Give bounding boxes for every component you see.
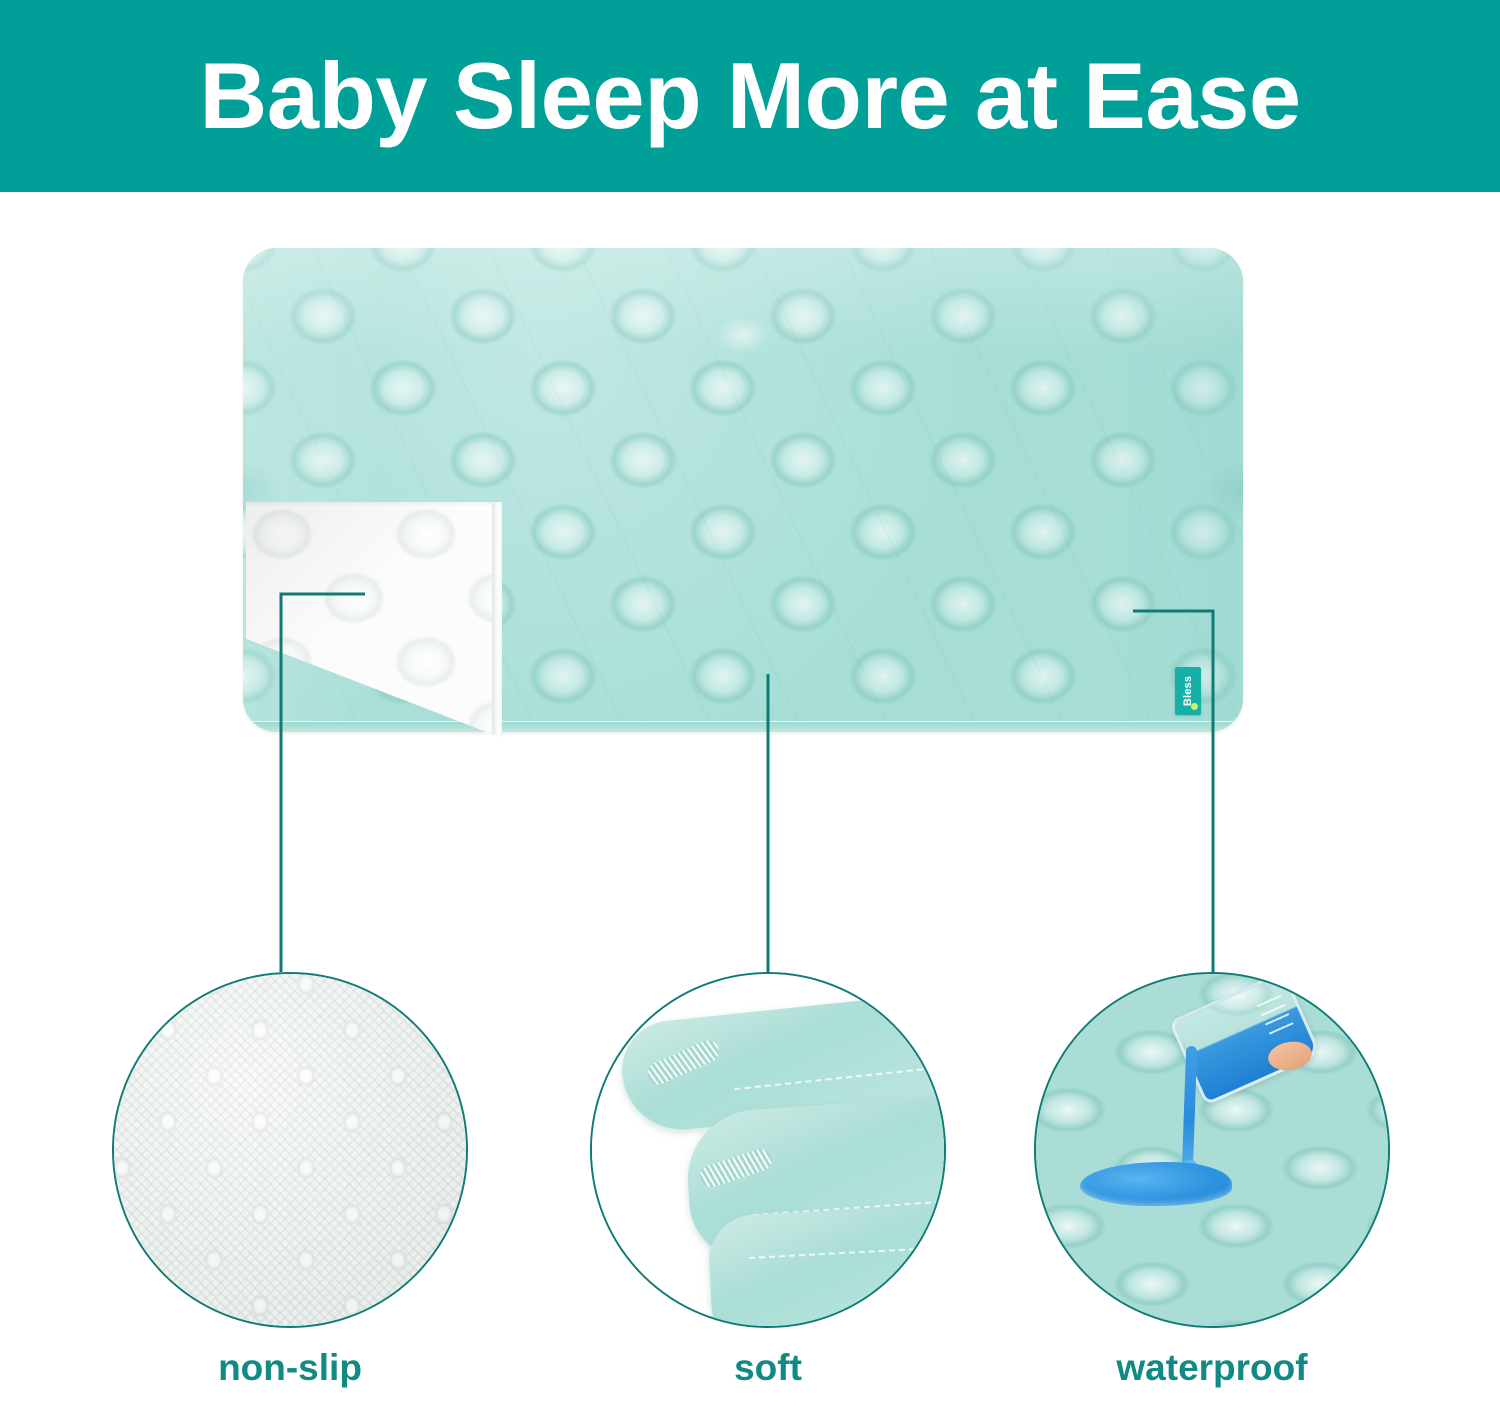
beaker-measure-marks	[1257, 995, 1297, 1042]
feature-image-waterproof	[1034, 972, 1390, 1328]
mat-back-binding	[492, 502, 502, 738]
feature-image-soft	[590, 972, 946, 1328]
soft-stitch-upper	[734, 1065, 946, 1090]
feature-image-non-slip	[112, 972, 468, 1328]
water-puddle	[1080, 1162, 1232, 1206]
non-slip-shading	[114, 974, 466, 1326]
mat-bound-edge	[243, 721, 1243, 732]
brand-tag: Bless	[1175, 667, 1201, 715]
feature-caption-waterproof: waterproof	[1022, 1348, 1402, 1389]
mat-back-seam	[246, 502, 502, 509]
feature-caption-soft: soft	[578, 1348, 958, 1389]
brand-tag-label: Bless	[1182, 676, 1194, 706]
soft-serged-edge-lower	[697, 1146, 774, 1190]
page-title: Baby Sleep More at Ease	[199, 49, 1300, 143]
soft-stitch-bottom	[749, 1246, 946, 1259]
product-hero-stage: Bless	[0, 192, 1500, 952]
brand-tag-dot-icon	[1191, 703, 1198, 710]
soft-fabric-panel-bottom	[707, 1203, 946, 1328]
header-banner: Baby Sleep More at Ease	[0, 0, 1500, 192]
feature-caption-non-slip: non-slip	[100, 1348, 480, 1389]
soft-serged-edge-upper	[644, 1037, 722, 1088]
